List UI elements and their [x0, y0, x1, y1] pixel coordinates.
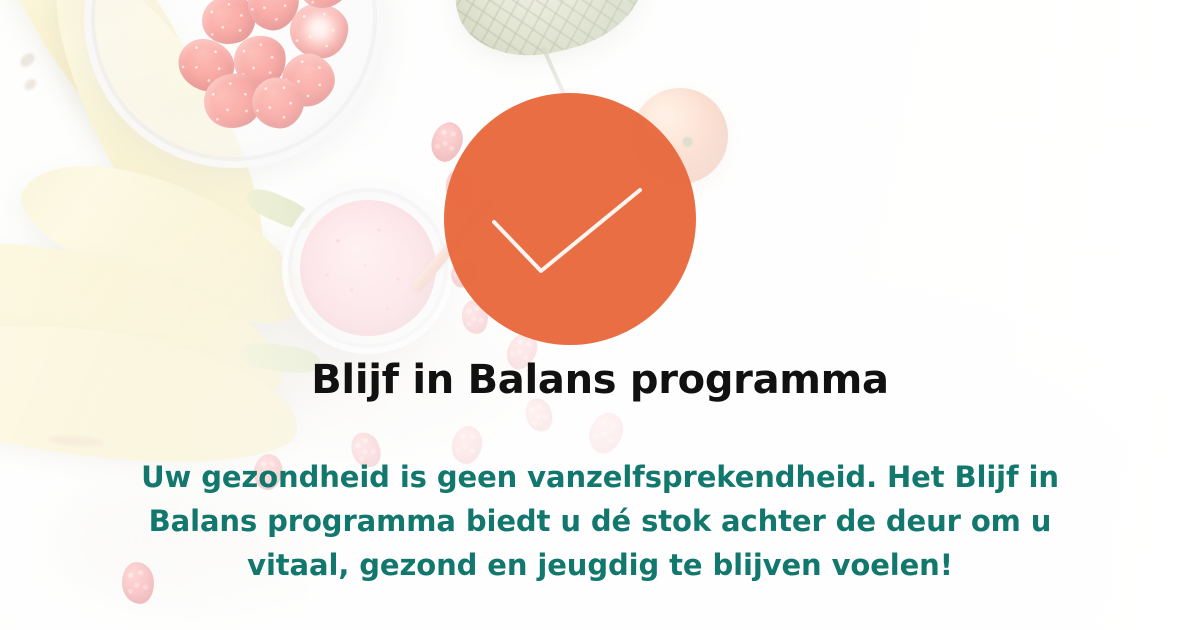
- banner-subtitle: Uw gezondheid is geen vanzelfsprekendhei…: [100, 455, 1100, 587]
- check-badge: [444, 93, 696, 345]
- badge-circle: [444, 93, 696, 345]
- banner-content: Blijf in Balans programma Uw gezondheid …: [0, 0, 1200, 630]
- blijf-in-balans-banner: Blijf in Balans programma Uw gezondheid …: [0, 0, 1200, 630]
- page-title: Blijf in Balans programma: [0, 358, 1200, 402]
- check-icon: [444, 93, 696, 345]
